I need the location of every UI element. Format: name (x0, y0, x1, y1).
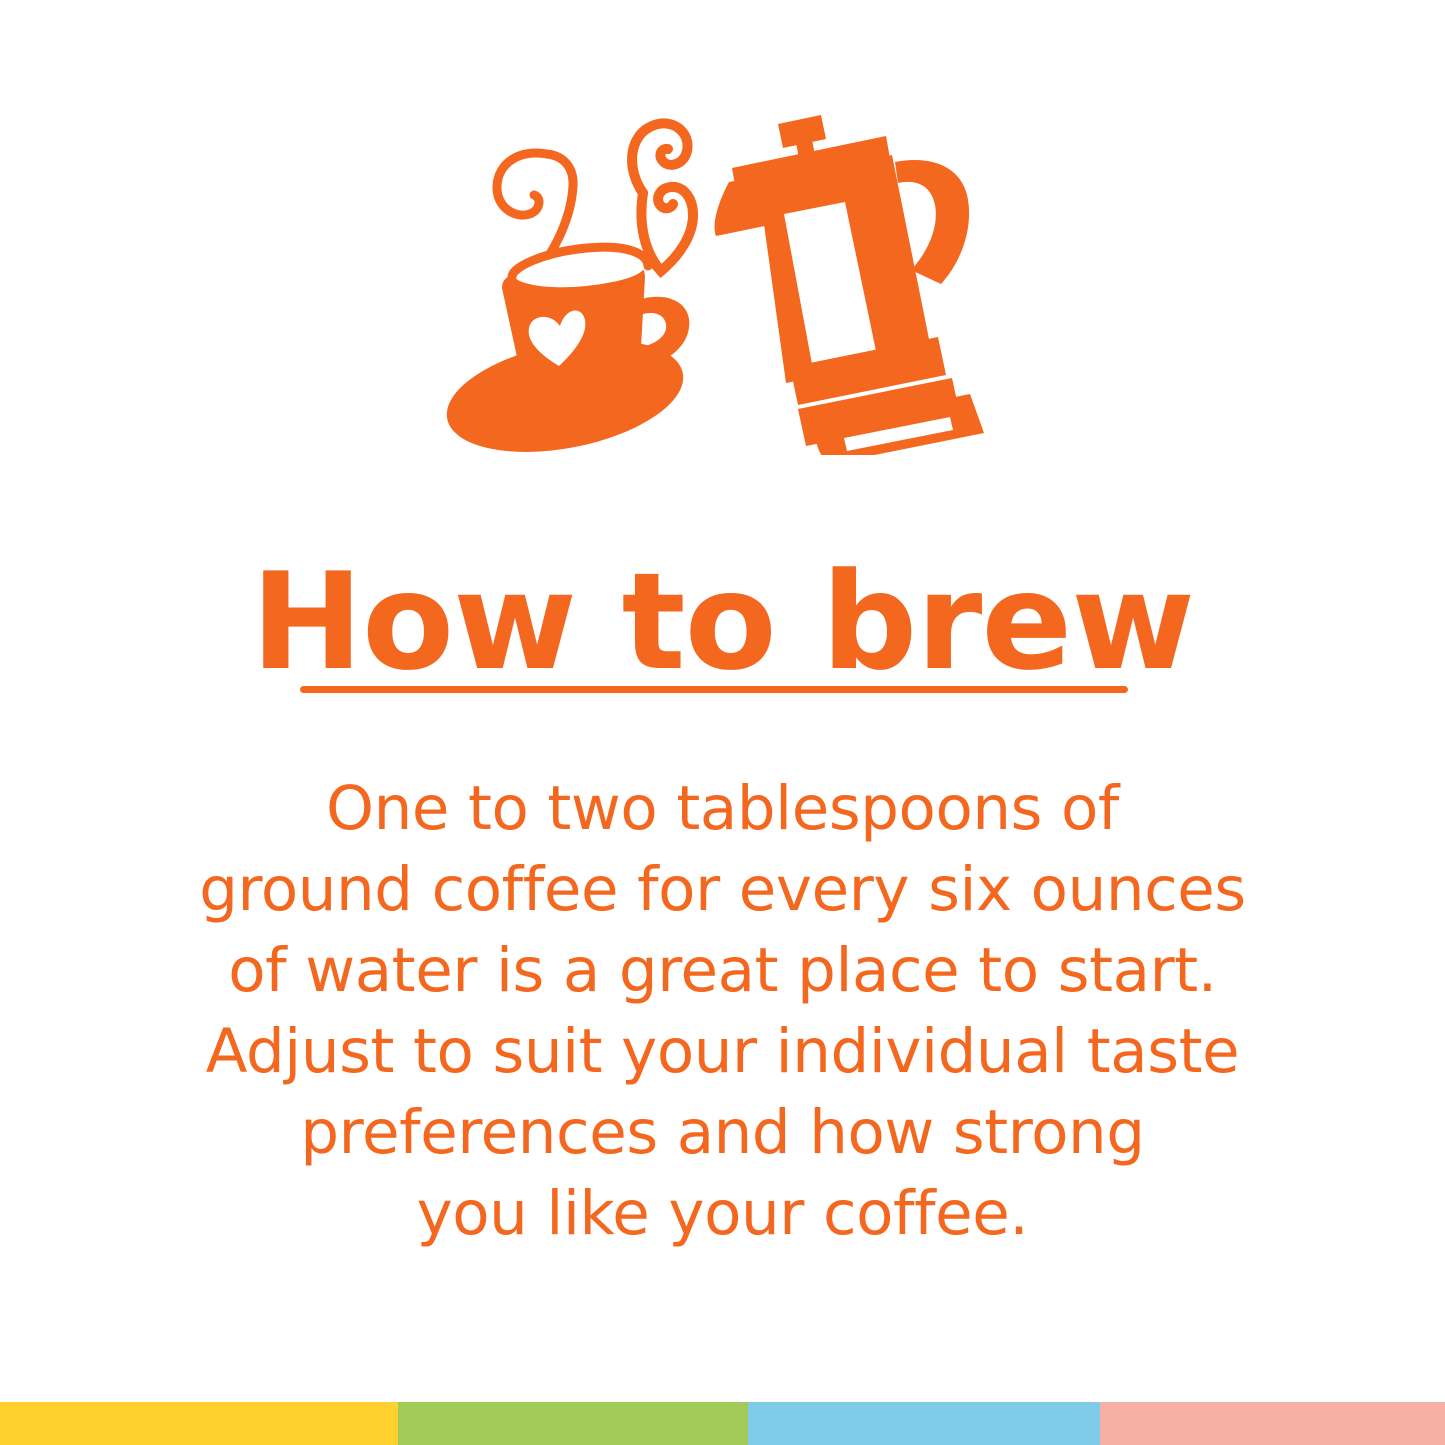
how-to-brew-card: How to brew One to two tablespoons of gr… (0, 0, 1445, 1445)
color-bar (0, 1402, 1445, 1445)
swatch-pink (1100, 1402, 1445, 1445)
instruction-line: Adjust to suit your individual taste (95, 1011, 1350, 1092)
instruction-line: ground coffee for every six ounces (95, 849, 1350, 930)
coffee-cup-icon (440, 247, 693, 455)
instruction-line: of water is a great place to start. (95, 930, 1350, 1011)
page-title: How to brew (0, 552, 1445, 692)
instruction-line: you like your coffee. (95, 1173, 1350, 1254)
instruction-text: One to two tablespoons of ground coffee … (95, 768, 1350, 1254)
instruction-line: One to two tablespoons of (95, 768, 1350, 849)
swatch-green (398, 1402, 748, 1445)
coffee-icon-cluster (440, 85, 985, 455)
swatch-blue (748, 1402, 1100, 1445)
instruction-line: preferences and how strong (95, 1092, 1350, 1173)
steam-swirl-right-icon (632, 123, 693, 271)
title-divider (300, 686, 1128, 693)
french-press-icon (715, 115, 984, 455)
swatch-yellow (0, 1402, 398, 1445)
